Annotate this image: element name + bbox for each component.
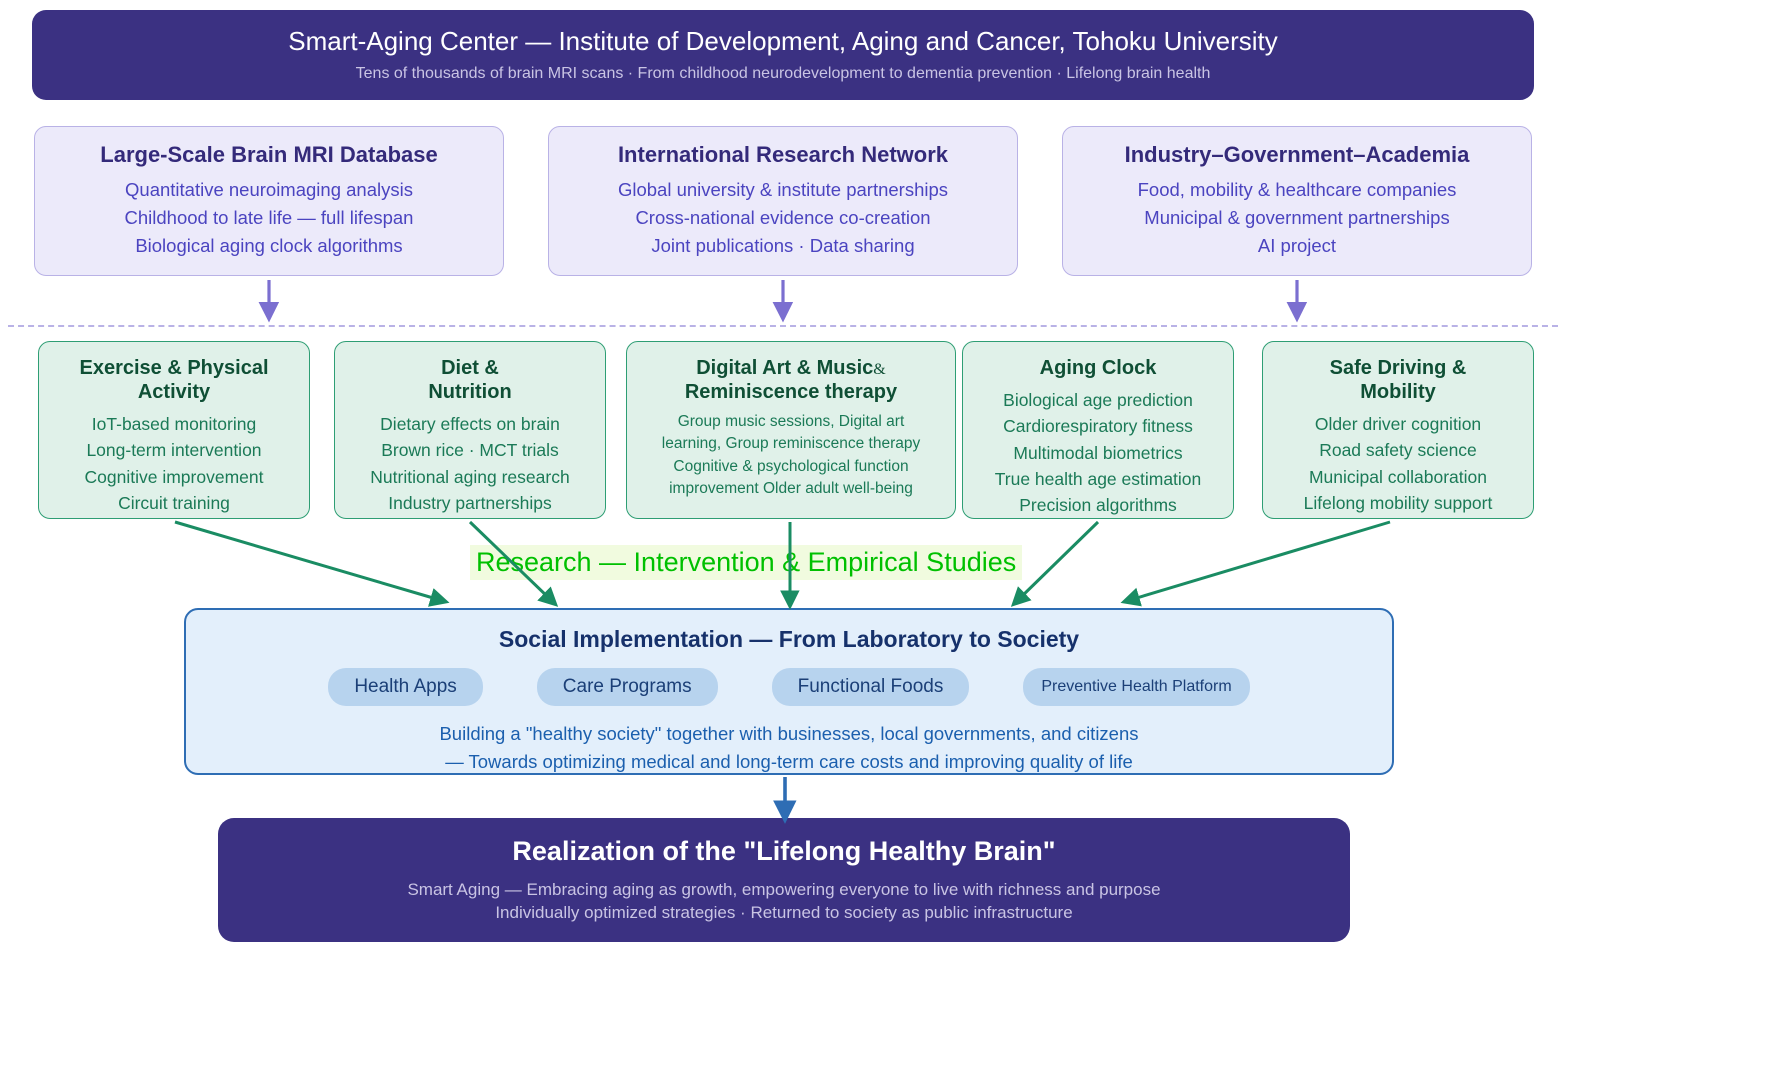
header-title: Smart-Aging Center — Institute of Develo… — [288, 25, 1277, 58]
card-line: Municipal & government partnerships — [1144, 204, 1449, 232]
social-implementation-footer: Building a "healthy society" together wi… — [439, 720, 1138, 776]
card-title-line2: Nutrition — [428, 381, 511, 403]
card-line: Multimodal biometrics — [1013, 440, 1182, 466]
card-line: Cardiorespiratory fitness — [1003, 413, 1193, 439]
card-line: Lifelong mobility support — [1304, 490, 1493, 516]
card-title-line2: Reminiscence therapy — [685, 381, 897, 403]
card-title-line1: Aging Clock — [1040, 357, 1157, 379]
card-line: Joint publications · Data sharing — [651, 232, 914, 260]
card-title: Exercise & Physical Activity — [79, 356, 268, 404]
card-line: Precision algorithms — [1019, 492, 1177, 518]
card-line: Food, mobility & healthcare companies — [1138, 176, 1457, 204]
research-card-diet-nutrition: Diet & Nutrition Dietary effects on brai… — [334, 341, 606, 519]
card-line: Industry partnerships — [388, 490, 551, 516]
card-title: Industry–Government–Academia — [1125, 142, 1470, 168]
card-line: Dietary effects on brain — [380, 411, 560, 437]
card-title-line2: Activity — [138, 381, 210, 403]
card-line: learning, Group reminiscence therapy — [662, 433, 920, 455]
footer-title: Realization of the "Lifelong Healthy Bra… — [512, 835, 1055, 869]
card-line: Cross-national evidence co-creation — [635, 204, 930, 232]
card-title: Aging Clock — [1040, 356, 1157, 380]
card-line: Older driver cognition — [1315, 411, 1481, 437]
chip-functional-foods[interactable]: Functional Foods — [772, 668, 970, 707]
card-title: Digital Art & Music& Reminiscence therap… — [685, 356, 897, 404]
social-implementation-panel: Social Implementation — From Laboratory … — [184, 608, 1394, 775]
header-banner: Smart-Aging Center — Institute of Develo… — [32, 10, 1534, 100]
card-title-line1: Digital Art & Music — [696, 357, 873, 379]
foundation-card-industry-government-academia: Industry–Government–Academia Food, mobil… — [1062, 126, 1532, 276]
card-title-line1: Safe Driving & — [1330, 357, 1467, 379]
chip-care-programs[interactable]: Care Programs — [537, 668, 718, 707]
social-footer-line1: Building a "healthy society" together wi… — [439, 720, 1138, 748]
research-card-exercise-physical-activity: Exercise & Physical Activity IoT-based m… — [38, 341, 310, 519]
card-line: Brown rice · MCT trials — [381, 437, 559, 463]
card-line: Childhood to late life — full lifespan — [125, 204, 414, 232]
card-line: Circuit training — [118, 490, 230, 516]
card-line: Long-term intervention — [86, 437, 261, 463]
card-line: improvement Older adult well-being — [669, 478, 913, 500]
header-subtitle: Tens of thousands of brain MRI scans · F… — [356, 63, 1211, 85]
social-footer-line2: — Towards optimizing medical and long-te… — [439, 748, 1138, 776]
research-section-label: Research — Intervention & Empirical Stud… — [470, 545, 1022, 580]
card-line: Group music sessions, Digital art — [678, 411, 905, 433]
chip-health-apps[interactable]: Health Apps — [328, 668, 482, 707]
card-line: Biological age prediction — [1003, 387, 1193, 413]
foundation-card-mri-database: Large-Scale Brain MRI Database Quantitat… — [34, 126, 504, 276]
card-title: International Research Network — [618, 142, 948, 168]
footer-subtitle-line1: Smart Aging — Embracing aging as growth,… — [407, 879, 1160, 902]
footer-banner: Realization of the "Lifelong Healthy Bra… — [218, 818, 1350, 942]
card-line: IoT-based monitoring — [92, 411, 256, 437]
card-line: Biological aging clock algorithms — [135, 232, 402, 260]
card-line: Nutritional aging research — [370, 464, 569, 490]
research-card-digital-art-music-reminiscence: Digital Art & Music& Reminiscence therap… — [626, 341, 956, 519]
card-title: Safe Driving & Mobility — [1330, 356, 1467, 404]
diagram-canvas: Smart-Aging Center — Institute of Develo… — [0, 0, 1566, 957]
card-line: Global university & institute partnershi… — [618, 176, 948, 204]
card-title: Large-Scale Brain MRI Database — [100, 142, 437, 168]
card-title-line2: Mobility — [1360, 381, 1436, 403]
card-line: AI project — [1258, 232, 1336, 260]
card-line: Cognitive & psychological function — [673, 456, 908, 478]
card-title-line1: Diet & — [441, 357, 499, 379]
foundation-card-research-network: International Research Network Global un… — [548, 126, 1018, 276]
card-line: Road safety science — [1319, 437, 1477, 463]
chip-preventive-health-platform[interactable]: Preventive Health Platform — [1023, 668, 1249, 705]
card-title: Diet & Nutrition — [428, 356, 511, 404]
social-implementation-title: Social Implementation — From Laboratory … — [499, 626, 1079, 654]
section-divider — [8, 325, 1558, 327]
card-line: Cognitive improvement — [85, 464, 264, 490]
card-line: True health age estimation — [995, 466, 1202, 492]
research-card-safe-driving-mobility: Safe Driving & Mobility Older driver cog… — [1262, 341, 1534, 519]
card-line: Municipal collaboration — [1309, 464, 1487, 490]
research-card-aging-clock: Aging Clock Biological age prediction Ca… — [962, 341, 1234, 519]
foundation-to-research-arrows — [269, 280, 1297, 312]
ampersand-glyph: & — [873, 361, 885, 378]
footer-subtitle-line2: Individually optimized strategies · Retu… — [495, 902, 1072, 925]
card-line: Quantitative neuroimaging analysis — [125, 176, 413, 204]
card-title-line1: Exercise & Physical — [79, 357, 268, 379]
social-implementation-chip-row: Health Apps Care Programs Functional Foo… — [328, 668, 1249, 707]
